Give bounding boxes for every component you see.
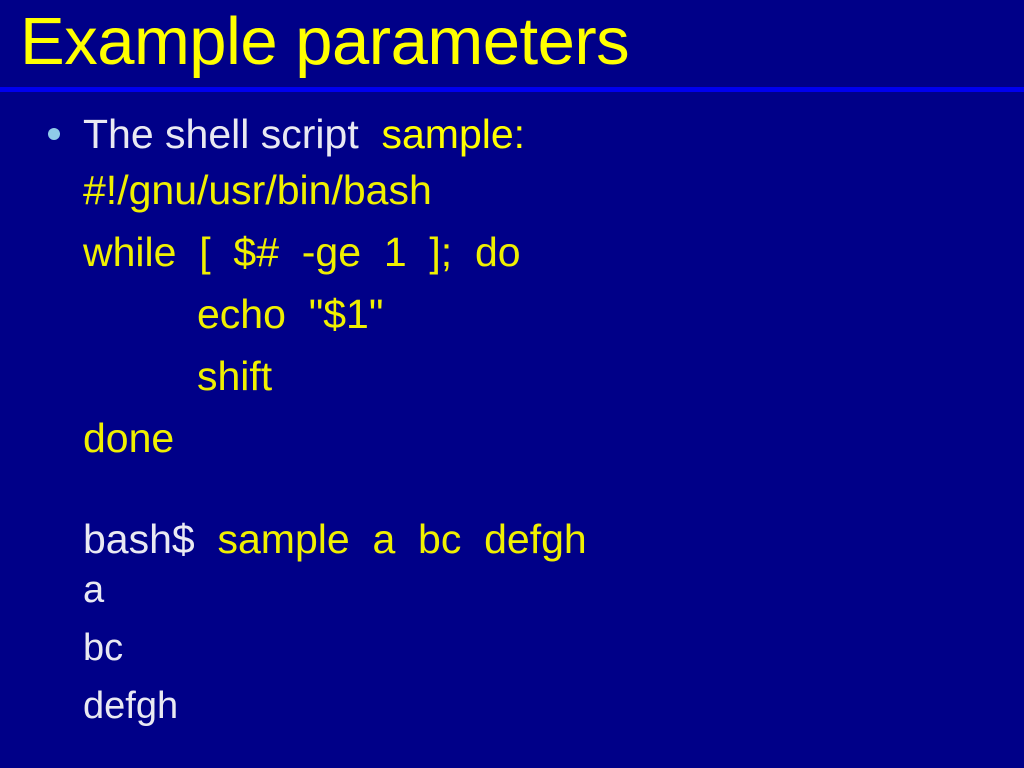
bullet-lead-text: The shell script — [83, 111, 382, 157]
code-line-echo: echo "$1" — [197, 290, 383, 338]
shell-command: sample a bc defgh — [218, 516, 587, 562]
code-line-done: done — [83, 414, 174, 462]
shell-prompt: bash$ — [83, 516, 218, 562]
slide-body: The shell script sample: #!/gnu/usr/bin/… — [0, 92, 1024, 768]
terminal-output-line: a — [83, 568, 104, 612]
code-line-shift: shift — [197, 352, 272, 400]
code-line-shebang: #!/gnu/usr/bin/bash — [83, 166, 432, 214]
bullet-item-label: The shell script sample: — [83, 108, 525, 160]
slide-title-area: Example parameters — [0, 0, 1024, 88]
bullet-list-item: The shell script sample: — [0, 108, 1000, 160]
page-title: Example parameters — [20, 2, 629, 82]
terminal-command-line: bash$ sample a bc defgh — [83, 515, 587, 563]
bullet-script-name: sample: — [382, 111, 526, 157]
terminal-output-line: defgh — [83, 684, 178, 728]
bullet-dot-icon — [48, 128, 60, 140]
presentation-slide: Example parameters The shell script samp… — [0, 0, 1024, 768]
terminal-output-line: bc — [83, 626, 123, 670]
code-line-while: while [ $# -ge 1 ]; do — [83, 228, 521, 276]
